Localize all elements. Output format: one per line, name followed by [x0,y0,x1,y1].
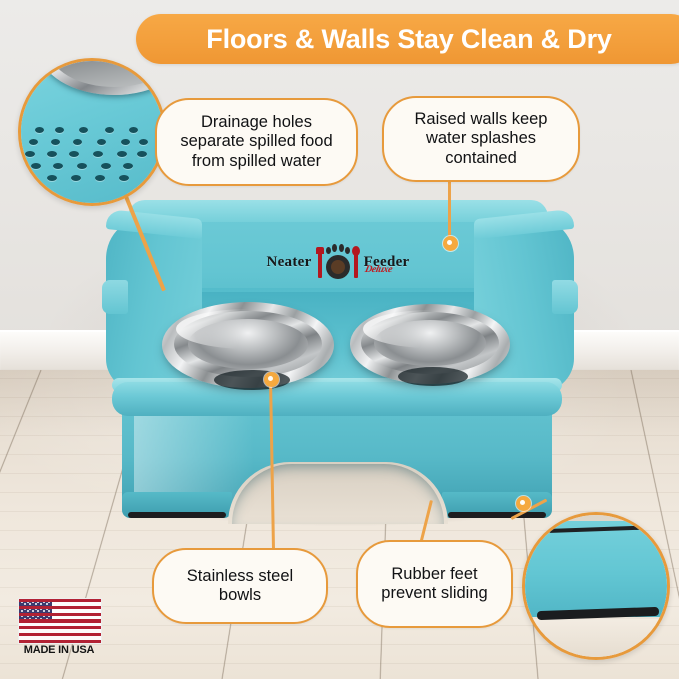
drainage-hole [79,127,88,133]
neater-feeder-product: Neater Feeder Deluxe [100,196,580,526]
drainage-holes-inset [18,58,166,206]
drainage-hole [105,127,114,133]
flag-star [29,603,31,605]
left-wall-notch [102,280,128,314]
callout-walls-text: Raised walls keep water splashes contain… [384,110,578,167]
flag-stripe [19,619,101,622]
header-banner-text: Floors & Walls Stay Clean & Dry [206,24,625,55]
drainage-hole [121,139,130,145]
made-in-usa-badge: MADE IN USA [18,598,106,660]
flag-star [35,603,37,605]
brand-sub-label: Deluxe [364,264,393,275]
us-flag-icon [18,598,102,644]
drainage-hole [25,151,35,157]
callout-drainage-text: Drainage holes separate spilled food fro… [157,113,356,170]
drainage-hole [69,151,79,157]
drainage-hole [47,151,57,157]
header-banner: Floors & Walls Stay Clean & Dry [136,14,679,64]
brand-name-first: Neater [266,254,311,271]
paw-bowl-fork-spoon-icon [315,244,361,280]
made-in-usa-label: MADE IN USA [18,644,100,656]
base-arch-shadow [232,464,444,524]
drainage-hole [29,139,38,145]
flag-star [40,603,42,605]
callout-rubber-feet: Rubber feet prevent sliding [356,540,513,628]
drainage-hole [123,163,133,169]
drainage-hole [71,175,81,181]
flag-stripe [19,599,101,602]
callout-raised-walls: Raised walls keep water splashes contain… [382,96,580,182]
fork-icon [318,250,322,278]
drainage-hole [137,151,147,157]
callout-feet-text: Rubber feet prevent sliding [358,565,511,603]
drainage-hole [129,127,138,133]
drainage-hole [101,163,111,169]
drainage-hole [31,163,41,169]
drainage-hole [51,139,60,145]
inset-floor-plane [525,619,667,657]
drainage-hole [95,175,105,181]
flag-stripe [19,640,101,643]
drainage-hole [139,139,148,145]
flag-stripe [19,626,101,629]
leader-dot-walls [443,236,458,251]
leader-line-walls [448,178,451,242]
callout-stainless-bowls: Stainless steel bowls [152,548,328,624]
brand-logo: Neater Feeder Deluxe [248,242,428,282]
spoon-icon [354,250,358,278]
leader-dot-bowls [264,372,279,387]
rubber-feet-inset [522,512,670,660]
flag-star [24,603,26,605]
flag-stripe [19,606,101,609]
drainage-hole [119,175,129,181]
drainage-hole [73,139,82,145]
floor-grain [0,663,679,664]
stainless-bowl-left [162,302,334,388]
bowl-highlight [363,310,499,348]
drainage-hole [35,127,44,133]
infographic-canvas: Neater Feeder Deluxe [0,0,679,679]
drainage-hole [97,139,106,145]
leader-dot-feet [516,496,531,511]
inset-teal-foot [522,521,670,617]
bowl-base-shadow [398,367,468,386]
drainage-hole [93,151,103,157]
callout-bowls-text: Stainless steel bowls [154,567,326,605]
drainage-hole [47,175,57,181]
drainage-hole [55,127,64,133]
left-rubber-foot [128,512,226,518]
callout-drainage-holes: Drainage holes separate spilled food fro… [155,98,358,186]
flag-stripe [19,613,101,616]
flag-stripe [19,633,101,636]
bowl-highlight [176,309,322,349]
stainless-bowl-right [350,304,510,384]
bowl-icon [326,255,350,279]
drainage-hole [77,163,87,169]
flag-star [46,603,48,605]
drainage-hole [117,151,127,157]
right-wall-notch [552,280,578,314]
drainage-hole [53,163,63,169]
